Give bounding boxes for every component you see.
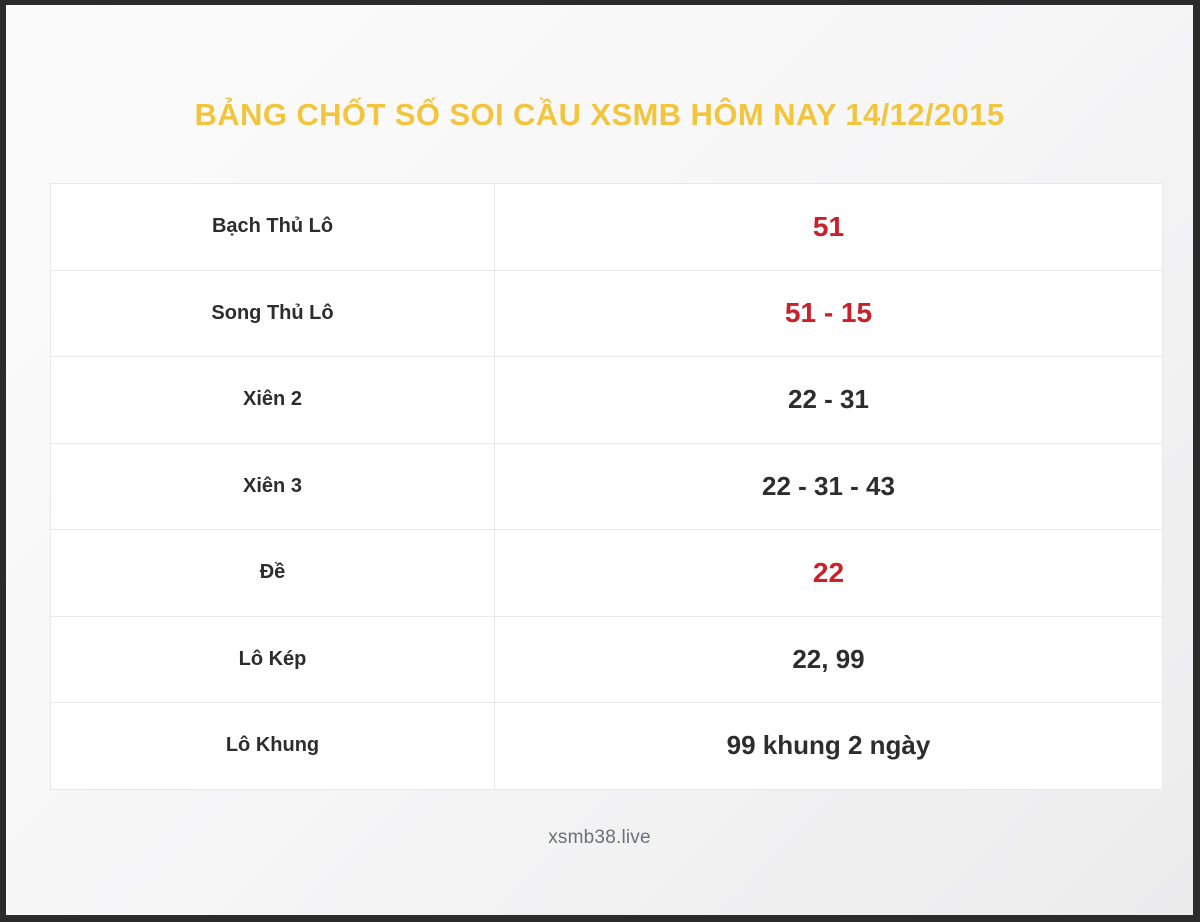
row-value: 22 - 31 — [495, 357, 1163, 444]
row-value-highlight: 51 - 15 — [495, 270, 1163, 357]
row-value-highlight: 22 — [495, 530, 1163, 617]
row-label: Lô Khung — [51, 703, 495, 790]
row-value: 22, 99 — [495, 616, 1163, 703]
row-label: Xiên 3 — [51, 443, 495, 530]
table-row: Bạch Thủ Lô51 — [51, 184, 1163, 271]
table-row: Xiên 322 - 31 - 43 — [51, 443, 1163, 530]
chot-so-table-body: Bạch Thủ Lô51Song Thủ Lô51 - 15Xiên 222 … — [51, 184, 1163, 790]
page-frame: BẢNG CHỐT SỐ SOI CẦU XSMB HÔM NAY 14/12/… — [0, 0, 1200, 922]
row-label: Lô Kép — [51, 616, 495, 703]
row-label: Đề — [51, 530, 495, 617]
row-value: 99 khung 2 ngày — [495, 703, 1163, 790]
table-row: Lô Kép22, 99 — [51, 616, 1163, 703]
row-value: 22 - 31 - 43 — [495, 443, 1163, 530]
page-title: BẢNG CHỐT SỐ SOI CẦU XSMB HÔM NAY 14/12/… — [194, 97, 1004, 133]
row-value-highlight: 51 — [495, 184, 1163, 271]
title-bar: BẢNG CHỐT SỐ SOI CẦU XSMB HÔM NAY 14/12/… — [6, 97, 1193, 133]
table-row: Lô Khung99 khung 2 ngày — [51, 703, 1163, 790]
site-footer-text: xsmb38.live — [548, 827, 651, 848]
table-row: Đề22 — [51, 530, 1163, 617]
row-label: Bạch Thủ Lô — [51, 184, 495, 271]
site-footer: xsmb38.live — [6, 827, 1193, 849]
table-row: Xiên 222 - 31 — [51, 357, 1163, 444]
chot-so-table: Bạch Thủ Lô51Song Thủ Lô51 - 15Xiên 222 … — [50, 183, 1163, 790]
row-label: Song Thủ Lô — [51, 270, 495, 357]
page-canvas: BẢNG CHỐT SỐ SOI CẦU XSMB HÔM NAY 14/12/… — [6, 5, 1193, 915]
row-label: Xiên 2 — [51, 357, 495, 444]
table-row: Song Thủ Lô51 - 15 — [51, 270, 1163, 357]
